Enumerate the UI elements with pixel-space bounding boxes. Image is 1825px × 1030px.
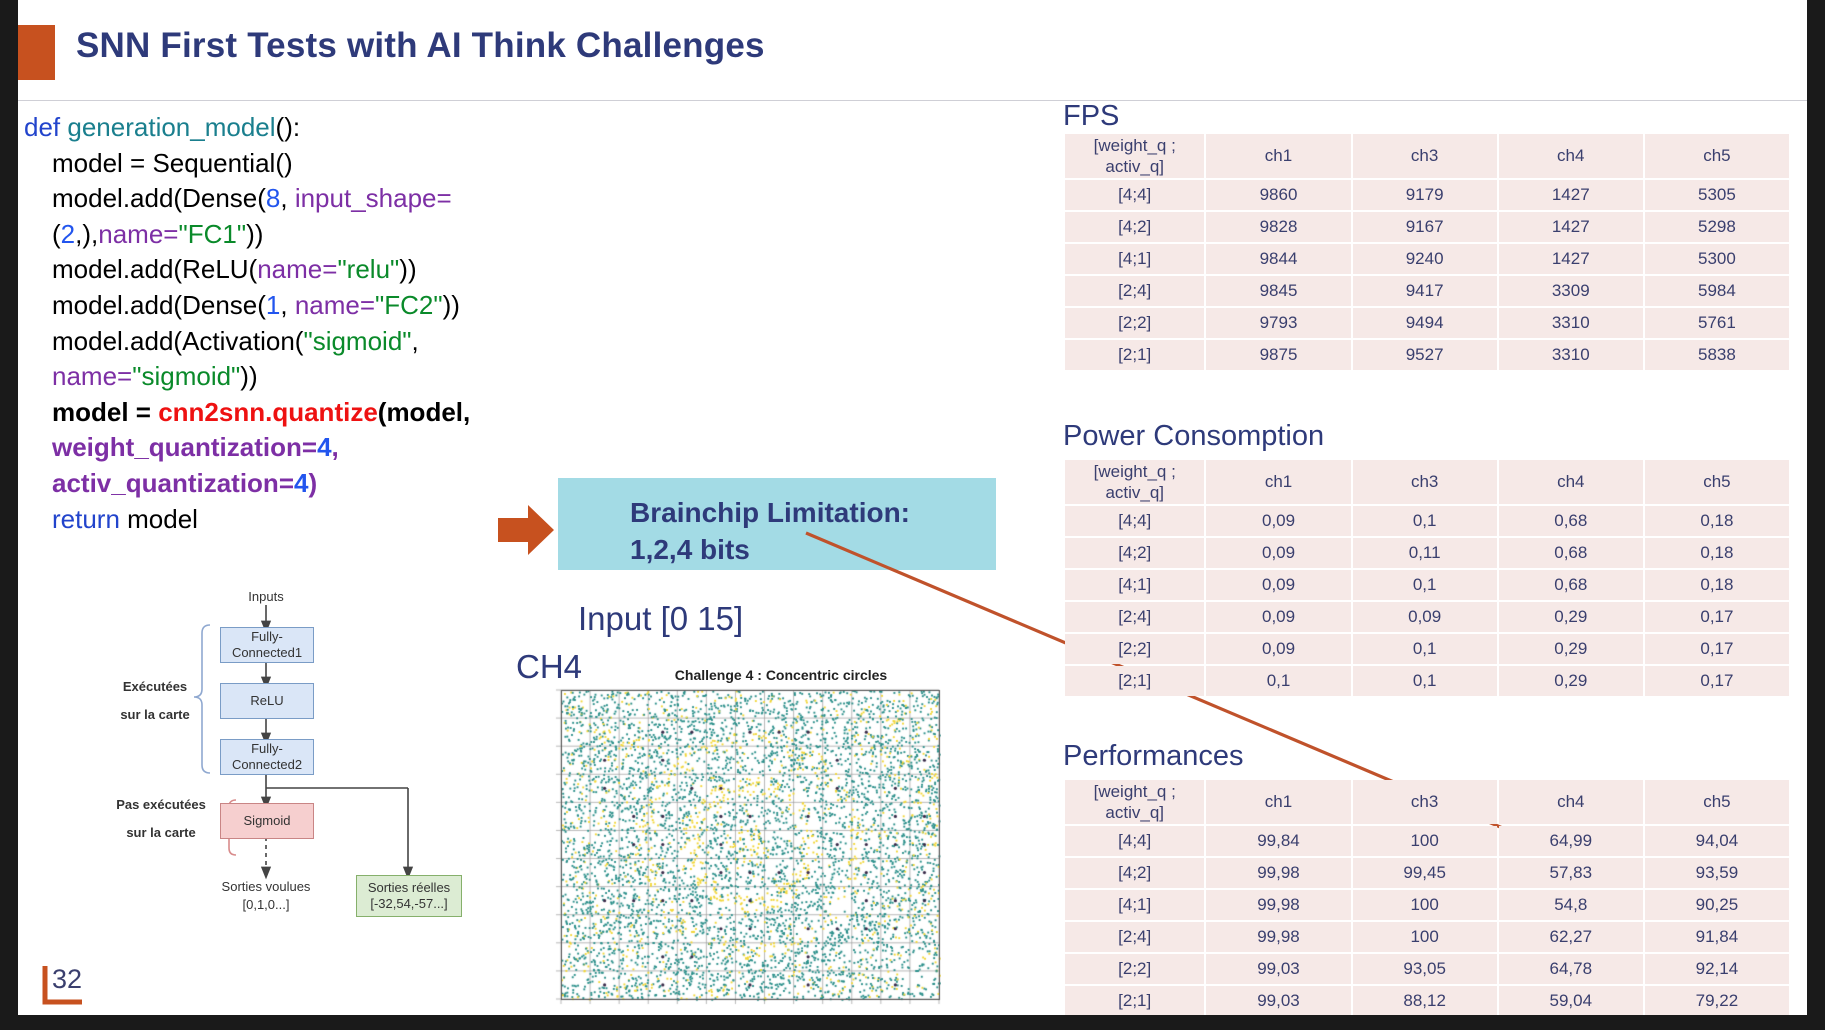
table-row: [4;2]0,090,110,680,18 bbox=[1065, 538, 1789, 568]
table-header-cell: ch5 bbox=[1645, 780, 1789, 824]
table-cell: 9845 bbox=[1206, 276, 1350, 306]
table-cell: 9527 bbox=[1353, 340, 1497, 370]
page-number: 32 bbox=[52, 964, 82, 995]
table-title-power: Power Consomption bbox=[1063, 420, 1324, 453]
code-line-8: return model bbox=[24, 502, 544, 538]
table-cell: 0,68 bbox=[1499, 538, 1643, 568]
diagram-real-output-1: Sorties réelles bbox=[368, 880, 450, 896]
table-cell: 1427 bbox=[1499, 212, 1643, 242]
code-token-comma3: , bbox=[412, 326, 426, 356]
table-cell: 1427 bbox=[1499, 244, 1643, 274]
table-cell: 91,84 bbox=[1645, 922, 1789, 952]
code-token-add-dense2: model.add(Dense( bbox=[52, 290, 266, 320]
table-cell: 0,18 bbox=[1645, 570, 1789, 600]
code-token-inputshape: input_shape= bbox=[295, 183, 452, 213]
slide-canvas: SNN First Tests with AI Think Challenges… bbox=[18, 0, 1807, 1015]
table-cell: [2;1] bbox=[1065, 666, 1204, 696]
code-line-7: model = cnn2snn.quantize(model, weight_q… bbox=[24, 395, 544, 502]
table-row: [4;1]0,090,10,680,18 bbox=[1065, 570, 1789, 600]
table-header-cell: ch1 bbox=[1206, 134, 1350, 178]
table-cell: 0,09 bbox=[1206, 634, 1350, 664]
code-token-return: return bbox=[52, 504, 120, 534]
code-token-add-activation: model.add(Activation( bbox=[52, 326, 303, 356]
code-line-5: model.add(Dense(1, name="FC2")) bbox=[24, 288, 544, 324]
table-cell: [2;2] bbox=[1065, 308, 1204, 338]
table-cell: [2;1] bbox=[1065, 986, 1204, 1015]
table-cell: 9844 bbox=[1206, 244, 1350, 274]
table-header-cell: ch4 bbox=[1499, 460, 1643, 504]
code-block: def generation_model(): model = Sequenti… bbox=[24, 110, 544, 537]
table-cell: 94,04 bbox=[1645, 826, 1789, 856]
table-cell: 100 bbox=[1353, 826, 1497, 856]
code-token-add-dense: model.add(Dense( bbox=[52, 183, 266, 213]
table-cell: 0,18 bbox=[1645, 506, 1789, 536]
table-cell: 5298 bbox=[1645, 212, 1789, 242]
table-title-perf: Performances bbox=[1063, 740, 1244, 773]
code-token-closetuple: ,), bbox=[75, 219, 98, 249]
code-token-8: 8 bbox=[266, 183, 280, 213]
table-cell: 9240 bbox=[1353, 244, 1497, 274]
code-token-aq4: 4 bbox=[294, 468, 308, 498]
table-row: [2;1]9875952733105838 bbox=[1065, 340, 1789, 370]
code-token-def: def bbox=[24, 112, 60, 142]
table-cell: 54,8 bbox=[1499, 890, 1643, 920]
table-header-cell: ch1 bbox=[1206, 780, 1350, 824]
table-cell: [2;4] bbox=[1065, 922, 1204, 952]
table-cell: 0,18 bbox=[1645, 538, 1789, 568]
callout-text: Brainchip Limitation: 1,2,4 bits bbox=[630, 494, 910, 568]
table-row: [4;1]9844924014275300 bbox=[1065, 244, 1789, 274]
table-cell: 93,59 bbox=[1645, 858, 1789, 888]
table-cell: 0,09 bbox=[1206, 506, 1350, 536]
table-row: [2;4]0,090,090,290,17 bbox=[1065, 602, 1789, 632]
table-header-cell: ch5 bbox=[1645, 134, 1789, 178]
diagram-node-fc2-label: Fully-Connected2 bbox=[232, 741, 302, 774]
table-cell: 9417 bbox=[1353, 276, 1497, 306]
table-cell: 0,29 bbox=[1499, 602, 1643, 632]
table-cell: 0,09 bbox=[1206, 570, 1350, 600]
table-cell: 3310 bbox=[1499, 308, 1643, 338]
table-cell: [4;1] bbox=[1065, 570, 1204, 600]
brainchip-limitation-callout: Brainchip Limitation: 1,2,4 bits bbox=[558, 478, 996, 570]
table-cell: 9179 bbox=[1353, 180, 1497, 210]
table-cell: 59,04 bbox=[1499, 986, 1643, 1015]
table-row: [4;2]99,9899,4557,8393,59 bbox=[1065, 858, 1789, 888]
table-cell: 5305 bbox=[1645, 180, 1789, 210]
table-cell: 100 bbox=[1353, 922, 1497, 952]
table-power-consomption: [weight_q ;activ_q]ch1ch3ch4ch5[4;4]0,09… bbox=[1063, 458, 1791, 698]
code-token-comma4: , bbox=[332, 432, 339, 462]
code-token-sigmoid-str: "sigmoid" bbox=[303, 326, 411, 356]
table-cell: 64,99 bbox=[1499, 826, 1643, 856]
table-cell: 99,98 bbox=[1206, 922, 1350, 952]
diagram-node-sigmoid-label: Sigmoid bbox=[244, 813, 291, 829]
input-range-title: Input [0 15] bbox=[578, 600, 743, 638]
code-token-wq4: 4 bbox=[317, 432, 331, 462]
table-cell: 5838 bbox=[1645, 340, 1789, 370]
table-cell: 0,1 bbox=[1353, 570, 1497, 600]
table-cell: [4;1] bbox=[1065, 890, 1204, 920]
code-line-1: def generation_model(): bbox=[24, 110, 544, 146]
callout-line-2: 1,2,4 bits bbox=[630, 531, 910, 568]
table-cell: 0,1 bbox=[1206, 666, 1350, 696]
table-cell: 0,17 bbox=[1645, 634, 1789, 664]
code-token-quantize: cnn2snn.quantize bbox=[158, 397, 378, 427]
table-cell: 0,29 bbox=[1499, 634, 1643, 664]
table-cell: [4;1] bbox=[1065, 244, 1204, 274]
code-token-parencolon: (): bbox=[276, 112, 301, 142]
code-token-activq: activ_quantization= bbox=[52, 468, 294, 498]
table-cell: 0,1 bbox=[1353, 506, 1497, 536]
code-token-add-relu: model.add(ReLU( bbox=[52, 254, 257, 284]
diagram-not-executed-label-1: Pas exécutées bbox=[106, 797, 216, 812]
diagram-real-output-box: Sorties réelles [-32,54,-57...] bbox=[356, 875, 462, 917]
diagram-node-fc1-label: Fully-Connected1 bbox=[232, 629, 302, 662]
code-token-comma2: , bbox=[280, 290, 294, 320]
table-cell: 9875 bbox=[1206, 340, 1350, 370]
table-header-cell: ch5 bbox=[1645, 460, 1789, 504]
code-token-fc1: "FC1" bbox=[178, 219, 246, 249]
code-token-close3: )) bbox=[443, 290, 460, 320]
code-token-comma1: , bbox=[280, 183, 294, 213]
code-token-lparen: ( bbox=[52, 219, 61, 249]
table-cell: 79,22 bbox=[1645, 986, 1789, 1015]
code-token-1: 1 bbox=[266, 290, 280, 320]
diagram-wanted-output-1: Sorties voulues bbox=[206, 879, 326, 894]
code-token-model-eq: model = bbox=[52, 397, 158, 427]
table-cell: [4;2] bbox=[1065, 212, 1204, 242]
code-token-2: 2 bbox=[61, 219, 75, 249]
table-header-cell: ch4 bbox=[1499, 780, 1643, 824]
table-row: [2;2]9793949433105761 bbox=[1065, 308, 1789, 338]
table-cell: 90,25 bbox=[1645, 890, 1789, 920]
code-token-model-ret: model bbox=[120, 504, 198, 534]
table-row: [2;1]0,10,10,290,17 bbox=[1065, 666, 1789, 696]
table-cell: 9167 bbox=[1353, 212, 1497, 242]
table-header-cell: [weight_q ;activ_q] bbox=[1065, 780, 1204, 824]
table-cell: 0,68 bbox=[1499, 506, 1643, 536]
diagram-inputs-label: Inputs bbox=[226, 589, 306, 604]
code-token-name2: name= bbox=[257, 254, 337, 284]
code-token-fc2: "FC2" bbox=[375, 290, 443, 320]
table-cell: 99,98 bbox=[1206, 890, 1350, 920]
table-cell: 99,98 bbox=[1206, 858, 1350, 888]
diagram-node-relu: ReLU bbox=[220, 683, 314, 719]
diagram-node-fc2: Fully-Connected2 bbox=[220, 739, 314, 775]
table-cell: 5761 bbox=[1645, 308, 1789, 338]
table-title-fps: FPS bbox=[1063, 100, 1119, 133]
table-cell: 0,29 bbox=[1499, 666, 1643, 696]
code-token-name1: name= bbox=[98, 219, 178, 249]
table-cell: 3309 bbox=[1499, 276, 1643, 306]
table-cell: 3310 bbox=[1499, 340, 1643, 370]
scatter-canvas bbox=[543, 688, 941, 1013]
code-line-3: model.add(Dense(8, input_shape=(2,),name… bbox=[24, 181, 544, 252]
code-line-2: model = Sequential() bbox=[24, 146, 544, 182]
diagram-node-fc1: Fully-Connected1 bbox=[220, 627, 314, 663]
table-fps: [weight_q ;activ_q]ch1ch3ch4ch5[4;4]9860… bbox=[1063, 132, 1791, 372]
table-cell: 0,68 bbox=[1499, 570, 1643, 600]
table-cell: 5984 bbox=[1645, 276, 1789, 306]
diagram-executed-label-1: Exécutées bbox=[110, 679, 200, 694]
table-cell: 0,11 bbox=[1353, 538, 1497, 568]
snn-model-diagram: Inputs Fully-Connected1 ReLU Fully-Conne… bbox=[118, 585, 478, 1015]
code-token-close1: )) bbox=[246, 219, 263, 249]
table-header-cell: ch3 bbox=[1353, 460, 1497, 504]
code-token-name4: name= bbox=[52, 361, 132, 391]
table-cell: 0,1 bbox=[1353, 666, 1497, 696]
table-header-row: [weight_q ;activ_q]ch1ch3ch4ch5 bbox=[1065, 134, 1789, 178]
table-row: [2;2]0,090,10,290,17 bbox=[1065, 634, 1789, 664]
code-line-6: model.add(Activation("sigmoid", name="si… bbox=[24, 324, 544, 395]
scatter-caption: Challenge 4 : Concentric circles bbox=[616, 667, 946, 683]
table-cell: 0,09 bbox=[1206, 538, 1350, 568]
table-cell: 62,27 bbox=[1499, 922, 1643, 952]
table-row: [4;2]9828916714275298 bbox=[1065, 212, 1789, 242]
table-cell: 5300 bbox=[1645, 244, 1789, 274]
table-cell: [2;4] bbox=[1065, 276, 1204, 306]
table-row: [2;4]99,9810062,2791,84 bbox=[1065, 922, 1789, 952]
table-cell: 57,83 bbox=[1499, 858, 1643, 888]
table-cell: [2;2] bbox=[1065, 954, 1204, 984]
diagram-not-executed-label-2: sur la carte bbox=[106, 825, 216, 840]
table-cell: 64,78 bbox=[1499, 954, 1643, 984]
table-header-row: [weight_q ;activ_q]ch1ch3ch4ch5 bbox=[1065, 460, 1789, 504]
table-cell: [4;2] bbox=[1065, 538, 1204, 568]
table-header-cell: [weight_q ;activ_q] bbox=[1065, 460, 1204, 504]
page-title: SNN First Tests with AI Think Challenges bbox=[76, 26, 765, 66]
concentric-circles-scatter bbox=[543, 688, 941, 1013]
table-cell: [2;2] bbox=[1065, 634, 1204, 664]
orange-arrow-icon bbox=[496, 500, 556, 560]
table-cell: 9793 bbox=[1206, 308, 1350, 338]
table-cell: 1427 bbox=[1499, 180, 1643, 210]
table-header-cell: [weight_q ;activ_q] bbox=[1065, 134, 1204, 178]
code-token-openmodel: (model, bbox=[378, 397, 478, 427]
diagram-executed-label-2: sur la carte bbox=[110, 707, 200, 722]
code-token-close4: )) bbox=[240, 361, 257, 391]
table-header-cell: ch4 bbox=[1499, 134, 1643, 178]
table-header-cell: ch3 bbox=[1353, 134, 1497, 178]
code-token-relu: "relu" bbox=[337, 254, 399, 284]
table-header-cell: ch3 bbox=[1353, 780, 1497, 824]
code-line-4: model.add(ReLU(name="relu")) bbox=[24, 252, 544, 288]
code-token-fnname: generation_model bbox=[67, 112, 275, 142]
table-performances: [weight_q ;activ_q]ch1ch3ch4ch5[4;4]99,8… bbox=[1063, 778, 1791, 1015]
table-cell: 88,12 bbox=[1353, 986, 1497, 1015]
table-cell: [4;4] bbox=[1065, 180, 1204, 210]
code-token-close5: ) bbox=[308, 468, 317, 498]
table-cell: 99,03 bbox=[1206, 986, 1350, 1015]
diagram-real-output-2: [-32,54,-57...] bbox=[370, 896, 447, 912]
header-divider bbox=[18, 100, 1807, 101]
table-header-row: [weight_q ;activ_q]ch1ch3ch4ch5 bbox=[1065, 780, 1789, 824]
table-cell: [4;2] bbox=[1065, 858, 1204, 888]
table-cell: 93,05 bbox=[1353, 954, 1497, 984]
diagram-node-sigmoid: Sigmoid bbox=[220, 803, 314, 839]
diagram-node-relu-label: ReLU bbox=[250, 693, 283, 709]
table-row: [2;1]99,0388,1259,0479,22 bbox=[1065, 986, 1789, 1015]
header-accent-square bbox=[18, 25, 55, 80]
table-cell: 0,17 bbox=[1645, 666, 1789, 696]
table-cell: 0,1 bbox=[1353, 634, 1497, 664]
table-cell: 92,14 bbox=[1645, 954, 1789, 984]
table-header-cell: ch1 bbox=[1206, 460, 1350, 504]
table-cell: 9860 bbox=[1206, 180, 1350, 210]
table-cell: 99,84 bbox=[1206, 826, 1350, 856]
channel-label-ch4: CH4 bbox=[516, 648, 582, 686]
table-cell: [2;1] bbox=[1065, 340, 1204, 370]
table-cell: 99,45 bbox=[1353, 858, 1497, 888]
table-cell: 0,09 bbox=[1353, 602, 1497, 632]
table-cell: [4;4] bbox=[1065, 826, 1204, 856]
table-cell: 99,03 bbox=[1206, 954, 1350, 984]
table-row: [4;4]0,090,10,680,18 bbox=[1065, 506, 1789, 536]
diagram-wanted-output-2: [0,1,0...] bbox=[206, 897, 326, 912]
code-token-weightq: weight_quantization= bbox=[52, 432, 317, 462]
callout-line-1: Brainchip Limitation: bbox=[630, 494, 910, 531]
table-row: [4;4]99,8410064,9994,04 bbox=[1065, 826, 1789, 856]
code-token-name3: name= bbox=[295, 290, 375, 320]
table-cell: 100 bbox=[1353, 890, 1497, 920]
table-row: [4;1]99,9810054,890,25 bbox=[1065, 890, 1789, 920]
table-cell: [2;4] bbox=[1065, 602, 1204, 632]
code-token-close2: )) bbox=[399, 254, 416, 284]
table-cell: [4;4] bbox=[1065, 506, 1204, 536]
table-row: [2;4]9845941733095984 bbox=[1065, 276, 1789, 306]
table-cell: 0,09 bbox=[1206, 602, 1350, 632]
table-cell: 9828 bbox=[1206, 212, 1350, 242]
table-row: [2;2]99,0393,0564,7892,14 bbox=[1065, 954, 1789, 984]
code-token-sigmoid-name: "sigmoid" bbox=[132, 361, 240, 391]
code-token-seq: model = Sequential() bbox=[52, 148, 293, 178]
table-cell: 9494 bbox=[1353, 308, 1497, 338]
table-row: [4;4]9860917914275305 bbox=[1065, 180, 1789, 210]
table-cell: 0,17 bbox=[1645, 602, 1789, 632]
